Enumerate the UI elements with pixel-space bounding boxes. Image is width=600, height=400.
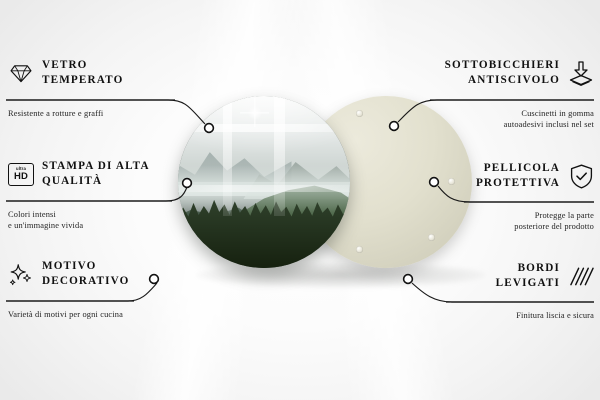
feature-vetro-temperato-subtitle: Resistente a rotture e graffi bbox=[8, 104, 198, 119]
feature-subtitle: Cuscinetti in gomma autoadesivi inclusi … bbox=[404, 108, 594, 131]
feature-subtitle: Colori intensi e un'immagine vivida bbox=[8, 209, 198, 232]
connector-path-stampa bbox=[6, 187, 187, 201]
feature-title: STAMPA DI ALTA QUALITÀ bbox=[42, 159, 150, 188]
ultra-hd-badge-icon: ultra HD bbox=[8, 161, 34, 187]
feature-bordi-levigati: BORDI LEVIGATI bbox=[404, 261, 594, 291]
feature-title: MOTIVO DECORATIVO bbox=[42, 259, 130, 288]
anti-slip-pad-icon bbox=[568, 60, 594, 86]
feature-title: BORDI LEVIGATI bbox=[496, 261, 560, 290]
feature-pellicola-protettiva: PELLICOLA PROTETTIVA bbox=[404, 161, 594, 191]
sparkles-icon bbox=[8, 261, 34, 287]
forest-scene-artwork bbox=[178, 96, 350, 268]
feature-title: SOTTOBICCHIERI ANTISCIVOLO bbox=[445, 58, 560, 87]
diagonal-lines-icon bbox=[568, 263, 594, 289]
feature-title: PELLICOLA PROTETTIVA bbox=[476, 161, 560, 190]
feature-stampa-subtitle: Colori intensi e un'immagine vivida bbox=[8, 205, 198, 232]
feature-bordi-subtitle: Finitura liscia e sicura bbox=[404, 306, 594, 321]
hd-badge-big-label: HD bbox=[14, 172, 28, 182]
feature-subtitle: Finitura liscia e sicura bbox=[404, 310, 594, 321]
feature-subtitle: Varietà di motivi per ogni cucina bbox=[8, 309, 198, 320]
feature-stampa-alta-qualita: ultra HD STAMPA DI ALTA QUALITÀ bbox=[8, 159, 198, 189]
rubber-pad bbox=[356, 246, 363, 253]
product-front-disc bbox=[178, 96, 350, 268]
feature-vetro-temperato: VETRO TEMPERATO bbox=[8, 58, 198, 88]
feature-title: VETRO TEMPERATO bbox=[42, 58, 123, 87]
diamond-icon bbox=[8, 60, 34, 86]
infographic-canvas: VETRO TEMPERATO Resistente a rotture e g… bbox=[0, 0, 600, 400]
rubber-pad bbox=[428, 234, 435, 241]
feature-motivo-decorativo: MOTIVO DECORATIVO bbox=[8, 259, 198, 289]
feature-motivo-subtitle: Varietà di motivi per ogni cucina bbox=[8, 305, 198, 320]
rubber-pad bbox=[356, 110, 363, 117]
feature-pellicola-subtitle: Protegge la parte posteriore del prodott… bbox=[404, 206, 594, 233]
feature-sottobicchieri-subtitle: Cuscinetti in gomma autoadesivi inclusi … bbox=[404, 104, 594, 131]
feature-sottobicchieri-antiscivolo: SOTTOBICCHIERI ANTISCIVOLO bbox=[404, 58, 594, 88]
shield-check-icon bbox=[568, 163, 594, 189]
feature-subtitle: Resistente a rotture e graffi bbox=[8, 108, 198, 119]
feature-subtitle: Protegge la parte posteriore del prodott… bbox=[404, 210, 594, 233]
